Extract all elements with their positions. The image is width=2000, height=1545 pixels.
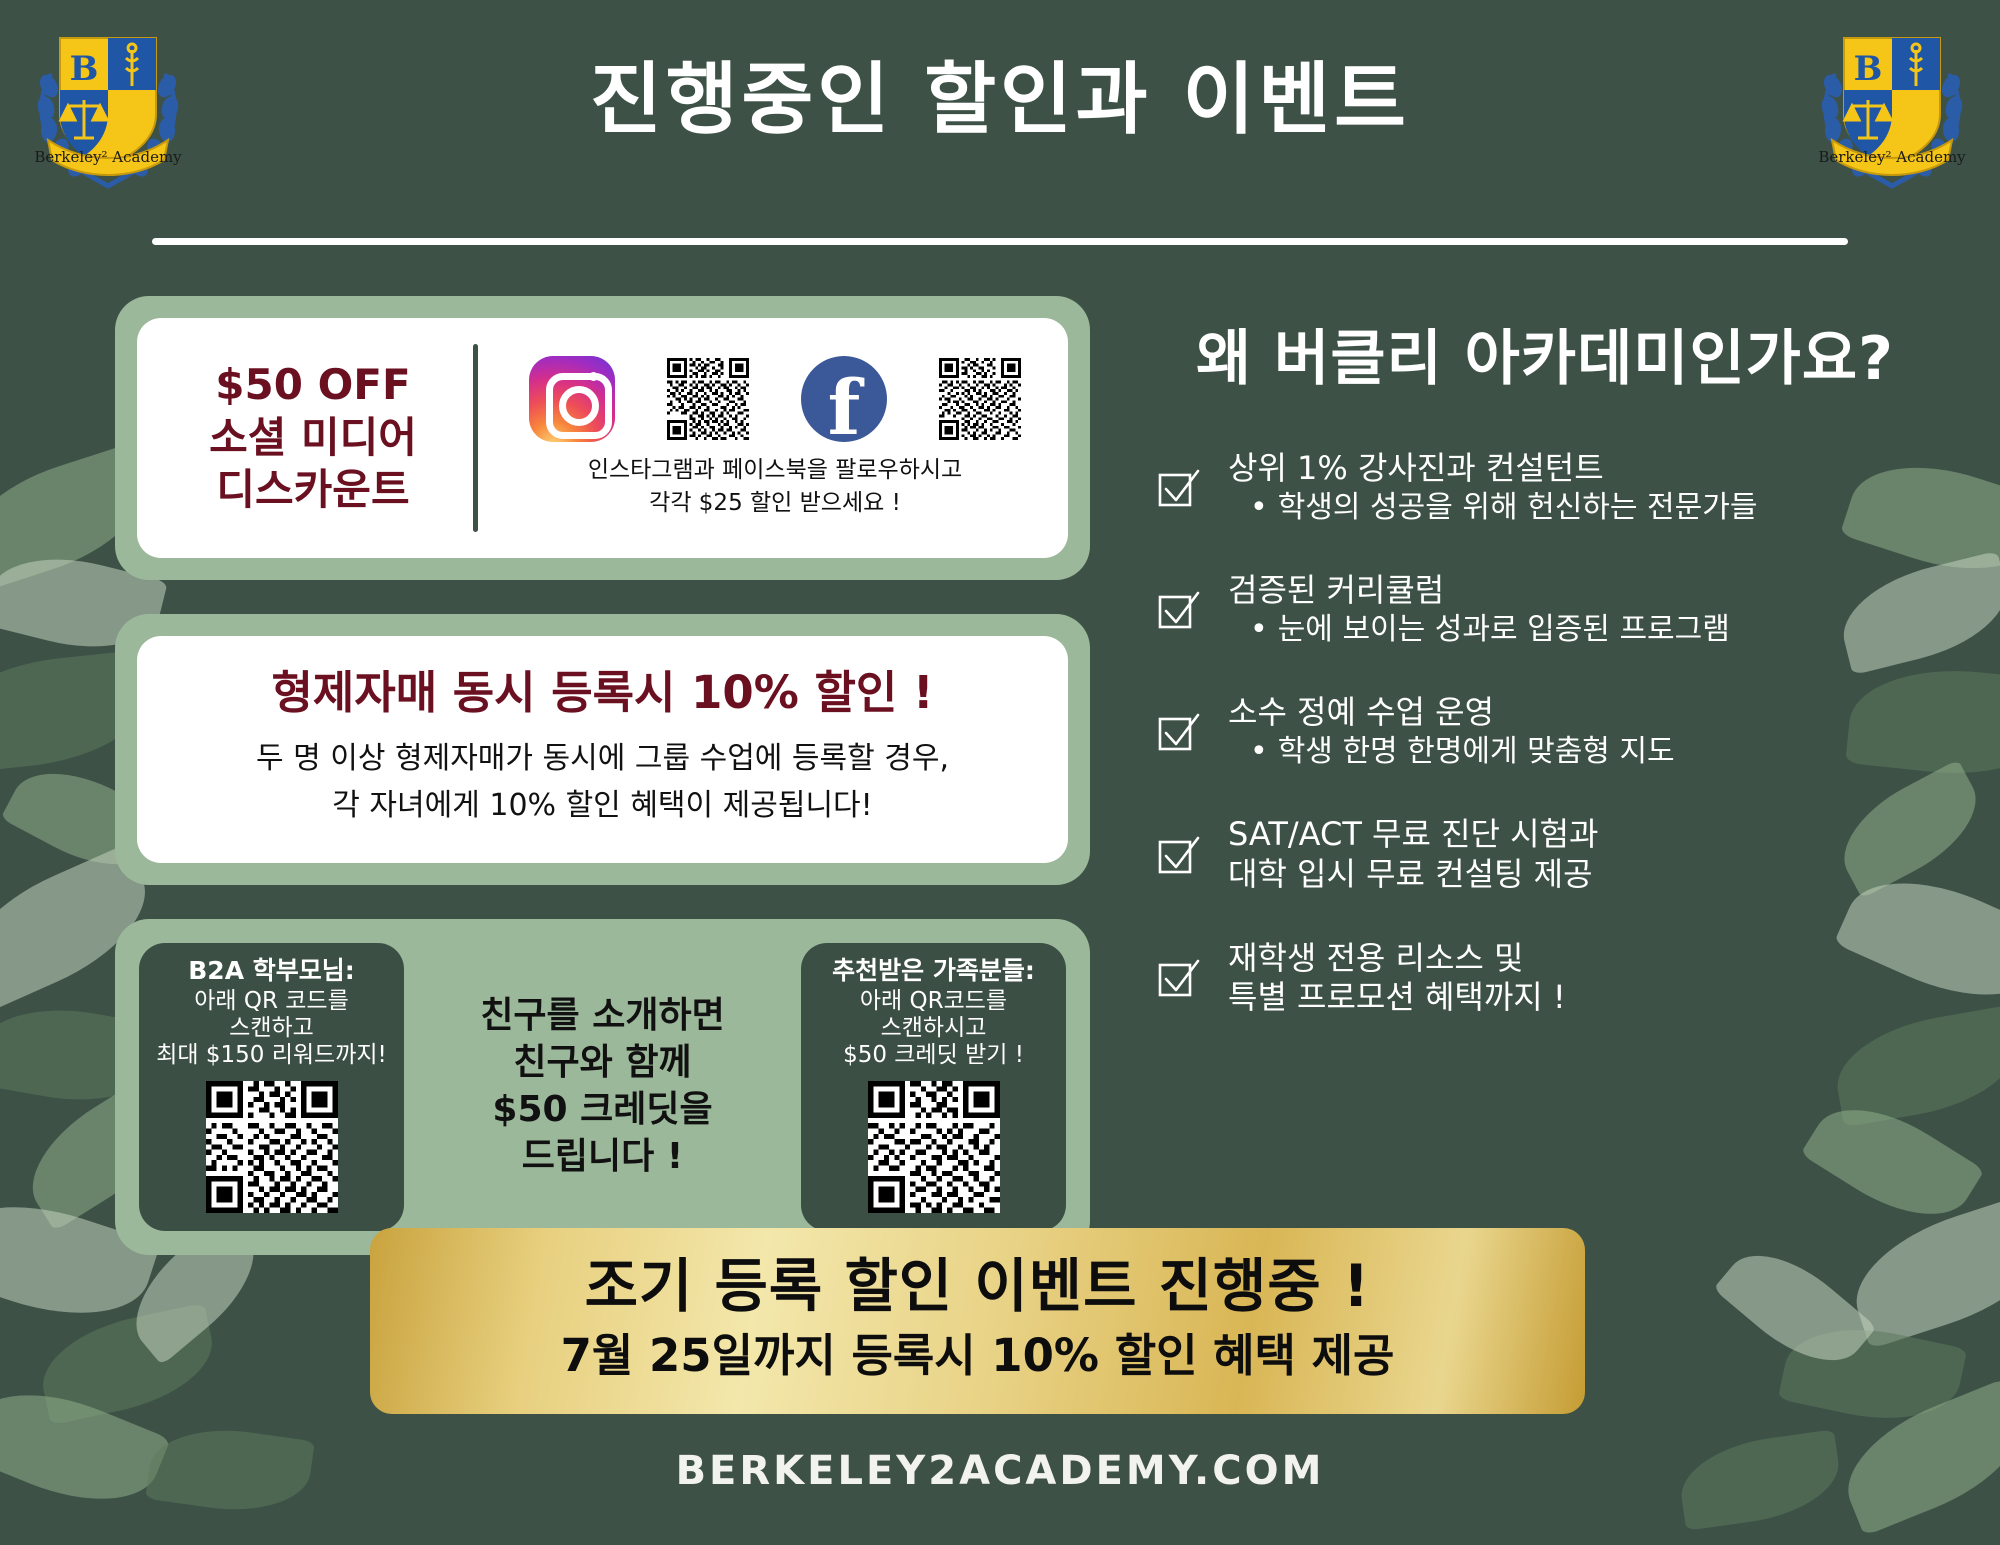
benefit-main-text: 검증된 커리큘럼 [1228, 571, 1730, 611]
cta-headline: 조기 등록 할인 이벤트 진행중 ! [390, 1252, 1565, 1322]
benefit-main-text: SAT/ACT 무료 진단 시험과 [1228, 815, 1598, 855]
sibling-discount-card: 형제자매 동시 등록시 10% 할인 ! 두 명 이상 형제자매가 동시에 그룹… [115, 614, 1090, 885]
benefit-main-text: 상위 1% 강사진과 컨설턴트 [1228, 449, 1757, 489]
referral-referred-line2: 스캔하시고 [809, 1015, 1058, 1042]
benefit-item: 소수 정예 수업 운영 학생 한명 한명에게 맞춤형 지도 [1130, 693, 1960, 771]
benefit-item: 상위 1% 강사진과 컨설턴트 학생의 성공을 위해 헌신하는 전문가들 [1130, 449, 1960, 527]
referral-parent-box: B2A 학부모님: 아래 QR 코드를 스캔하고 최대 $150 리워드까지! [139, 943, 404, 1231]
checkmark-icon [1156, 465, 1202, 511]
referred-family-qr-code[interactable] [868, 1081, 1000, 1213]
instagram-icon[interactable] [529, 356, 615, 442]
social-media-discount-card: $50 OFF 소셜 미디어 디스카운트 [115, 296, 1090, 580]
referral-referred-box: 추천받은 가족분들: 아래 QR코드를 스캔하시고 $50 크레딧 받기 ! [801, 943, 1066, 1231]
sibling-body-line1: 두 명 이상 형제자매가 동시에 그룹 수업에 등록할 경우, [163, 736, 1042, 783]
benefit-item: 재학생 전용 리소스 및 특별 프로모션 혜택까지 ! [1130, 939, 1960, 1018]
checkmark-icon [1156, 709, 1202, 755]
promotions-column: $50 OFF 소셜 미디어 디스카운트 [115, 296, 1090, 1289]
svg-text:Berkeley² Academy: Berkeley² Academy [1818, 148, 1966, 166]
why-section-title: 왜 버클리 아카데미인가요? [1130, 310, 1960, 397]
benefit-sub-text: 학생 한명 한명에게 맞춤형 지도 [1228, 733, 1675, 771]
page-title: 진행중인 할인과 이벤트 [0, 60, 2000, 142]
checkmark-icon [1156, 955, 1202, 1001]
social-caption-line2: 각각 $25 할인 받으세요 ! [508, 487, 1042, 520]
referral-parent-title: B2A 학부모님: [147, 957, 396, 986]
instagram-qr-code[interactable] [667, 358, 749, 440]
benefit-sub-text: 눈에 보이는 성과로 입증된 프로그램 [1228, 611, 1730, 649]
referral-referred-title: 추천받은 가족분들: [809, 957, 1058, 986]
cta-subline: 7월 25일까지 등록시 10% 할인 혜택 제공 [390, 1328, 1565, 1384]
title-divider [152, 238, 1848, 245]
benefit-main-text-line2: 대학 입시 무료 컨설팅 제공 [1228, 855, 1598, 895]
sibling-body-line2: 각 자녀에게 10% 할인 혜택이 제공됩니다! [163, 783, 1042, 830]
referral-referred-line3: $50 크레딧 받기 ! [809, 1042, 1058, 1069]
sibling-discount-title: 형제자매 동시 등록시 10% 할인 ! [163, 666, 1042, 720]
social-headline-line2: 소셜 미디어 [209, 412, 417, 465]
facebook-qr-code[interactable] [939, 358, 1021, 440]
referral-referred-line1: 아래 QR코드를 [809, 988, 1058, 1015]
page-header: B A Berkeley² Academy [0, 0, 2000, 210]
sibling-discount-body: 두 명 이상 형제자매가 동시에 그룹 수업에 등록할 경우, 각 자녀에게 1… [163, 736, 1042, 829]
referral-offer-text: 친구를 소개하면 친구와 함께 $50 크레딧을 드립니다 ! [418, 993, 787, 1180]
referral-offer-line1: 친구를 소개하면 [424, 993, 781, 1040]
social-headline-line3: 디스카운트 [216, 464, 409, 517]
crest-ribbon-text: Berkeley² Academy [34, 148, 182, 166]
referral-offer-line2: 친구와 함께 [424, 1040, 781, 1087]
social-headline-line1: $50 OFF [215, 359, 410, 412]
benefit-item: 검증된 커리큘럼 눈에 보이는 성과로 입증된 프로그램 [1130, 571, 1960, 649]
checkmark-icon [1156, 587, 1202, 633]
parent-referral-qr-code[interactable] [206, 1081, 338, 1213]
early-registration-cta-banner[interactable]: 조기 등록 할인 이벤트 진행중 ! 7월 25일까지 등록시 10% 할인 혜… [370, 1228, 1585, 1414]
social-discount-headline: $50 OFF 소셜 미디어 디스카운트 [163, 338, 463, 538]
social-caption: 인스타그램과 페이스북을 팔로우하시고 각각 $25 할인 받으세요 ! [508, 454, 1042, 519]
referral-program-card: B2A 학부모님: 아래 QR 코드를 스캔하고 최대 $150 리워드까지! [115, 919, 1090, 1255]
benefit-main-text-line2: 특별 프로모션 혜택까지 ! [1228, 978, 1566, 1018]
benefit-sub-text: 학생의 성공을 위해 헌신하는 전문가들 [1228, 489, 1757, 527]
referral-parent-line3: 최대 $150 리워드까지! [147, 1042, 396, 1069]
social-card-divider [473, 344, 478, 532]
why-berkeley-section: 왜 버클리 아카데미인가요? 상위 1% 강사진과 컨설턴트 학생의 성공을 위… [1130, 310, 1960, 1062]
social-caption-line1: 인스타그램과 페이스북을 팔로우하시고 [508, 454, 1042, 487]
referral-parent-line2: 스캔하고 [147, 1015, 396, 1042]
referral-offer-line4: 드립니다 ! [424, 1134, 781, 1181]
referral-offer-line3: $50 크레딧을 [424, 1087, 781, 1134]
benefit-main-text: 소수 정예 수업 운영 [1228, 693, 1675, 733]
facebook-icon[interactable]: f [801, 356, 887, 442]
benefit-item: SAT/ACT 무료 진단 시험과 대학 입시 무료 컨설팅 제공 [1130, 815, 1960, 894]
website-url[interactable]: BERKELEY2ACADEMY.COM [0, 1448, 2000, 1494]
benefit-main-text: 재학생 전용 리소스 및 [1228, 939, 1566, 979]
checkmark-icon [1156, 832, 1202, 878]
referral-parent-line1: 아래 QR 코드를 [147, 988, 396, 1015]
